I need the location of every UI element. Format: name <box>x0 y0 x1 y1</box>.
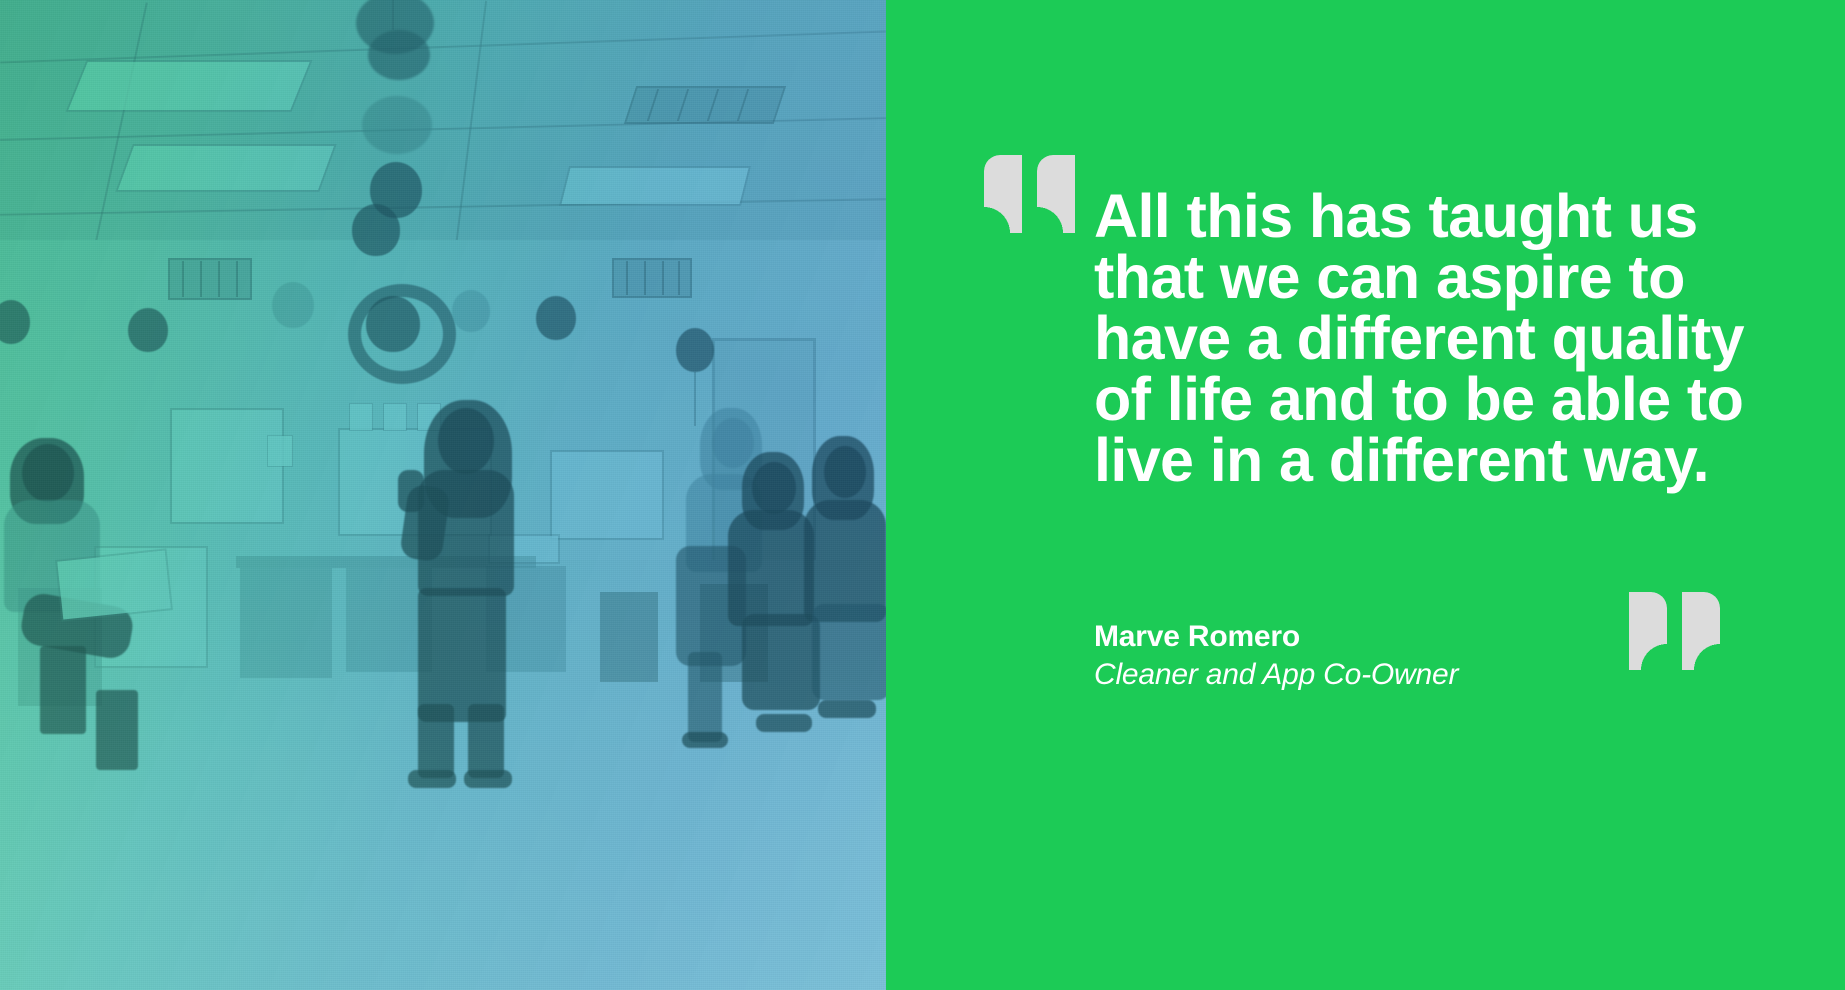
opening-quote-glyph-right <box>1037 155 1075 233</box>
closing-quote-glyph-left <box>1629 592 1667 670</box>
quote-line: have a different quality <box>1094 308 1754 369</box>
opening-quote-icon <box>984 155 1075 233</box>
quote-line: All this has taught us <box>1094 186 1754 247</box>
quote-line: live in a different way. <box>1094 430 1754 491</box>
attribution-role: Cleaner and App Co-Owner <box>1094 656 1458 694</box>
closing-quote-glyph-right <box>1682 592 1720 670</box>
testimonial-card: All this has taught us that we can aspir… <box>0 0 1845 990</box>
quote-line: of life and to be able to <box>1094 369 1754 430</box>
quote-panel: All this has taught us that we can aspir… <box>886 0 1845 990</box>
photo-grain <box>0 0 886 990</box>
attribution-name: Marve Romero <box>1094 618 1458 656</box>
quote-line: that we can aspire to <box>1094 247 1754 308</box>
attribution: Marve Romero Cleaner and App Co-Owner <box>1094 618 1458 695</box>
quote-text: All this has taught us that we can aspir… <box>1094 186 1754 491</box>
opening-quote-glyph-left <box>984 155 1022 233</box>
photo-panel <box>0 0 886 990</box>
closing-quote-icon <box>1629 592 1720 670</box>
